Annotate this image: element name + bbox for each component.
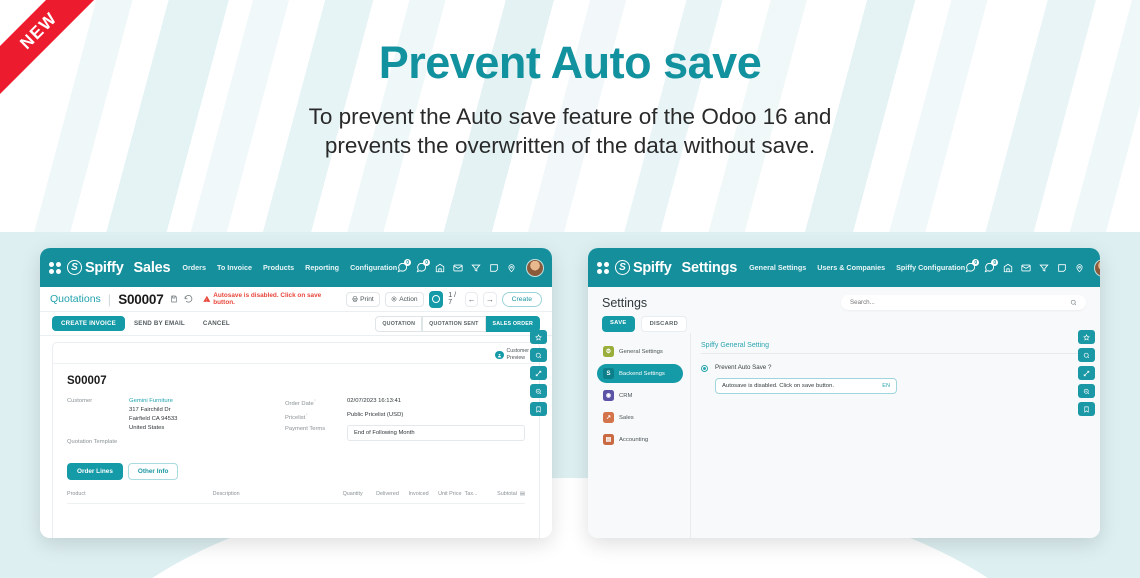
pricelist-label-text: Pricelist bbox=[285, 415, 305, 421]
field-payment-terms: Payment Terms End of Following Month bbox=[285, 425, 525, 441]
arrow-left-icon[interactable]: ← bbox=[465, 292, 478, 307]
tab-order-lines[interactable]: Order Lines bbox=[67, 463, 123, 480]
column-options-icon[interactable]: ▤ bbox=[520, 491, 525, 497]
star-icon[interactable] bbox=[1078, 330, 1095, 344]
avatar[interactable] bbox=[1094, 259, 1100, 277]
nav-item-general-settings[interactable]: General Settings bbox=[749, 263, 806, 272]
accounting-icon: ▤ bbox=[603, 434, 614, 445]
settings-header-row: Settings bbox=[602, 295, 1086, 310]
note-icon[interactable] bbox=[1057, 263, 1067, 273]
field-order-date: Order Date? 02/07/2023 16:13:41 bbox=[285, 397, 525, 407]
page-subtitle: To prevent the Auto save feature of the … bbox=[0, 102, 1140, 161]
order-date-label: Order Date? bbox=[285, 397, 347, 407]
payment-terms-label: Payment Terms bbox=[285, 425, 347, 432]
gear-app-icon: ⚙ bbox=[603, 346, 614, 357]
sheet-left-column: Customer Gemini Furniture 317 Fairchild … bbox=[67, 397, 273, 449]
settings-sidebar: ⚙ General Settings S Backend Settings ◉ … bbox=[588, 333, 691, 538]
search-input[interactable] bbox=[850, 299, 1070, 306]
sheet-right-column: Order Date? 02/07/2023 16:13:41 Pricelis… bbox=[285, 397, 525, 449]
brand-name: Spiffy bbox=[85, 260, 123, 276]
settings-navbar-icons: 0 0 bbox=[965, 259, 1100, 277]
hero-section: Prevent Auto save To prevent the Auto sa… bbox=[0, 38, 1140, 160]
language-badge[interactable]: EN bbox=[882, 383, 890, 389]
chat-icon[interactable]: 0 bbox=[984, 262, 995, 273]
sidebar-item-backend-settings[interactable]: S Backend Settings bbox=[597, 364, 683, 383]
settings-floating-actions bbox=[1078, 330, 1095, 416]
sheet-divider bbox=[53, 363, 539, 364]
search-icon bbox=[1070, 299, 1077, 306]
th-product: Product bbox=[67, 491, 213, 497]
save-icon[interactable] bbox=[170, 295, 178, 303]
document-title: S00007 bbox=[67, 375, 525, 387]
settings-navbar: S Spiffy Settings General Settings Users… bbox=[588, 248, 1100, 287]
pricelist-label: Pricelist? bbox=[285, 411, 347, 421]
nav-item-to-invoice[interactable]: To Invoice bbox=[217, 263, 252, 272]
spiffy-backend-icon: S bbox=[603, 368, 614, 379]
customer-preview-label: Customer Preview bbox=[507, 348, 530, 362]
zoom-icon[interactable] bbox=[530, 384, 547, 398]
filter-icon[interactable] bbox=[1039, 263, 1049, 273]
customer-label: Customer bbox=[67, 397, 129, 404]
tab-other-info[interactable]: Other Info bbox=[128, 463, 179, 480]
sidebar-item-label: Sales bbox=[619, 415, 634, 421]
sales-navbar: S Spiffy Sales Orders To Invoice Product… bbox=[40, 248, 552, 287]
pricelist-value[interactable]: Public Pricelist (USD) bbox=[347, 411, 403, 420]
nav-item-configuration[interactable]: Configuration bbox=[350, 263, 397, 272]
gear-icon bbox=[391, 296, 397, 302]
settings-page-title: Settings bbox=[602, 296, 647, 310]
cancel-button[interactable]: CANCEL bbox=[194, 316, 239, 331]
th-invoiced: Invoiced bbox=[409, 491, 439, 497]
discard-button[interactable]: DISCARD bbox=[641, 316, 688, 332]
order-lines-table-header: Product Description Quantity Delivered I… bbox=[67, 491, 525, 504]
zoom-icon[interactable] bbox=[1078, 384, 1095, 398]
print-icon bbox=[352, 296, 358, 302]
sidebar-item-sales[interactable]: ↗ Sales bbox=[597, 408, 683, 427]
warning-triangle-icon bbox=[203, 295, 211, 303]
location-pin-icon[interactable] bbox=[507, 263, 516, 273]
th-subtotal: Subtotal bbox=[497, 491, 517, 497]
customer-name[interactable]: Gemini Furniture bbox=[129, 398, 173, 404]
customer-value: Gemini Furniture 317 Fairchild Dr Fairfi… bbox=[129, 397, 177, 434]
settings-body: ⚙ General Settings S Backend Settings ◉ … bbox=[588, 333, 1100, 538]
control-panel-actions: Print Action 1 / 7 ← → Create bbox=[346, 291, 542, 308]
sidebar-item-accounting[interactable]: ▤ Accounting bbox=[597, 430, 683, 449]
subtitle-line-1: To prevent the Auto save feature of the … bbox=[0, 102, 1140, 131]
sidebar-item-label: CRM bbox=[619, 393, 632, 399]
star-icon[interactable] bbox=[530, 330, 547, 344]
sidebar-item-general-settings[interactable]: ⚙ General Settings bbox=[597, 342, 683, 361]
chat-badge: 0 bbox=[991, 259, 998, 266]
sales-control-panel: Quotations | S00007 Autosave is disabled… bbox=[40, 287, 552, 312]
spinner-icon[interactable] bbox=[429, 291, 444, 308]
filter-icon[interactable] bbox=[471, 263, 481, 273]
apps-grid-icon[interactable] bbox=[597, 262, 609, 274]
spiffy-mark-icon: S bbox=[615, 260, 630, 275]
settings-search[interactable] bbox=[841, 295, 1086, 310]
sheet-field-grid: Customer Gemini Furniture 317 Fairchild … bbox=[67, 397, 525, 449]
sheet-tabs: Order Lines Other Info bbox=[67, 463, 525, 480]
sidebar-item-label: Backend Settings bbox=[619, 371, 665, 377]
autosave-message-value: Autosave is disabled. Click on save butt… bbox=[722, 383, 882, 389]
settings-nav-menu: General Settings Users & Companies Spiff… bbox=[749, 263, 965, 272]
app-name-settings: Settings bbox=[681, 260, 737, 276]
app-name-sales: Sales bbox=[133, 260, 170, 276]
customer-preview-button[interactable]: Customer Preview bbox=[495, 348, 529, 362]
nav-item-orders[interactable]: Orders bbox=[182, 263, 206, 272]
sales-order-sheet: Customer Preview S00007 Customer Gemini … bbox=[52, 342, 540, 538]
arrow-right-icon[interactable]: → bbox=[483, 292, 496, 307]
sales-nav-menu: Orders To Invoice Products Reporting Con… bbox=[182, 263, 397, 272]
print-button[interactable]: Print bbox=[346, 292, 380, 307]
customer-preview-line1: Customer bbox=[507, 348, 530, 354]
record-pager: 1 / 7 bbox=[448, 292, 460, 306]
messages-badge: 0 bbox=[972, 259, 979, 266]
th-description: Description bbox=[213, 491, 343, 497]
bookmark-icon[interactable] bbox=[530, 402, 547, 416]
nav-item-users-companies[interactable]: Users & Companies bbox=[817, 263, 885, 272]
nav-item-reporting[interactable]: Reporting bbox=[305, 263, 339, 272]
field-quotation-template: Quotation Template bbox=[67, 438, 273, 445]
settings-section-title: Spiffy General Setting bbox=[701, 342, 1086, 354]
sales-status-bar: CREATE INVOICE SEND BY EMAIL CANCEL QUOT… bbox=[40, 312, 552, 336]
sales-icon: ↗ bbox=[603, 412, 614, 423]
sales-navbar-icons: 0 0 bbox=[397, 259, 544, 277]
sidebar-item-label: General Settings bbox=[619, 349, 663, 355]
sales-sheet-wrapper: Customer Preview S00007 Customer Gemini … bbox=[40, 336, 552, 538]
settings-actions: SAVE DISCARD bbox=[602, 316, 1086, 332]
field-customer: Customer Gemini Furniture 317 Fairchild … bbox=[67, 397, 273, 434]
stage-quotation[interactable]: QUOTATION bbox=[375, 316, 422, 332]
settings-main-panel: Spiffy General Setting Prevent Auto Save… bbox=[691, 333, 1100, 538]
chat-badge: 0 bbox=[423, 259, 430, 266]
nav-item-spiffy-configuration[interactable]: Spiffy Configuration bbox=[896, 263, 965, 272]
spiffy-logo[interactable]: S Spiffy bbox=[615, 260, 671, 276]
quotation-template-label: Quotation Template bbox=[67, 438, 129, 445]
customer-address-2: Fairfield CA 94533 bbox=[129, 416, 177, 422]
expand-icon[interactable] bbox=[530, 366, 547, 380]
subtitle-line-2: prevents the overwritten of the data wit… bbox=[0, 131, 1140, 160]
th-delivered: Delivered bbox=[376, 491, 408, 497]
chat-icon[interactable]: 0 bbox=[416, 262, 427, 273]
spiffy-logo[interactable]: S Spiffy bbox=[67, 260, 123, 276]
brand-name: Spiffy bbox=[633, 260, 671, 276]
th-tax: Tax... bbox=[465, 491, 497, 497]
location-pin-icon[interactable] bbox=[1075, 263, 1084, 273]
sales-floating-actions bbox=[530, 330, 547, 416]
customer-preview-line2: Preview bbox=[507, 355, 525, 361]
action-button[interactable]: Action bbox=[385, 292, 424, 307]
messages-icon[interactable]: 0 bbox=[965, 262, 976, 273]
activities-icon[interactable] bbox=[1003, 263, 1013, 273]
breadcrumb-quotations[interactable]: Quotations bbox=[50, 293, 101, 305]
field-pricelist: Pricelist? Public Pricelist (USD) bbox=[285, 411, 525, 421]
autosave-message-input[interactable]: Autosave is disabled. Click on save butt… bbox=[715, 378, 897, 394]
prevent-auto-save-label: Prevent Auto Save ? bbox=[715, 364, 771, 371]
page-title: Prevent Auto save bbox=[0, 38, 1140, 88]
send-by-email-button[interactable]: SEND BY EMAIL bbox=[125, 316, 194, 331]
avatar[interactable] bbox=[526, 259, 544, 277]
breadcrumb-current-record: S00007 bbox=[118, 292, 163, 307]
stage-quotation-sent[interactable]: QUOTATION SENT bbox=[422, 316, 485, 332]
sales-app-window: S Spiffy Sales Orders To Invoice Product… bbox=[40, 248, 552, 538]
messages-icon[interactable]: 0 bbox=[397, 262, 408, 273]
customer-preview-icon bbox=[495, 351, 504, 360]
mail-icon[interactable] bbox=[1021, 263, 1031, 273]
order-date-value[interactable]: 02/07/2023 16:13:41 bbox=[347, 397, 401, 406]
apps-grid-icon[interactable] bbox=[49, 262, 61, 274]
expand-icon[interactable] bbox=[1078, 366, 1095, 380]
autosave-warning-text: Autosave is disabled. Click on save butt… bbox=[213, 292, 339, 306]
messages-badge: 0 bbox=[404, 259, 411, 266]
settings-header: Settings SAVE DISCARD bbox=[588, 287, 1100, 333]
prevent-auto-save-field: Prevent Auto Save ? bbox=[701, 364, 1086, 372]
th-unit-price: Unit Price bbox=[438, 491, 465, 497]
crm-icon: ◉ bbox=[603, 390, 614, 401]
activities-icon[interactable] bbox=[435, 263, 445, 273]
customer-address-3: United States bbox=[129, 425, 164, 431]
customer-address-1: 317 Fairchild Dr bbox=[129, 407, 171, 413]
note-icon[interactable] bbox=[489, 263, 499, 273]
status-stages: QUOTATION QUOTATION SENT SALES ORDER bbox=[375, 316, 540, 332]
payment-terms-input[interactable]: End of Following Month bbox=[347, 425, 525, 441]
autosave-warning: Autosave is disabled. Click on save butt… bbox=[203, 292, 340, 306]
required-marker: ? bbox=[314, 398, 316, 403]
spiffy-mark-icon: S bbox=[67, 260, 82, 275]
th-quantity: Quantity bbox=[343, 491, 376, 497]
nav-item-products[interactable]: Products bbox=[263, 263, 294, 272]
print-label: Print bbox=[360, 296, 374, 303]
mail-icon[interactable] bbox=[453, 263, 463, 273]
search-icon[interactable] bbox=[530, 348, 547, 362]
sidebar-item-label: Accounting bbox=[619, 437, 648, 443]
search-icon[interactable] bbox=[1078, 348, 1095, 362]
sidebar-item-crm[interactable]: ◉ CRM bbox=[597, 386, 683, 405]
save-button[interactable]: SAVE bbox=[602, 316, 635, 332]
prevent-auto-save-checkbox[interactable] bbox=[701, 365, 708, 372]
create-button[interactable]: Create bbox=[502, 292, 542, 307]
settings-app-window: S Spiffy Settings General Settings Users… bbox=[588, 248, 1100, 538]
action-label: Action bbox=[399, 296, 417, 303]
bookmark-icon[interactable] bbox=[1078, 402, 1095, 416]
discard-icon[interactable] bbox=[184, 295, 193, 304]
order-date-label-text: Order Date bbox=[285, 401, 314, 407]
breadcrumb-separator: | bbox=[108, 292, 111, 307]
create-invoice-button[interactable]: CREATE INVOICE bbox=[52, 316, 125, 331]
required-marker: ? bbox=[305, 412, 307, 417]
